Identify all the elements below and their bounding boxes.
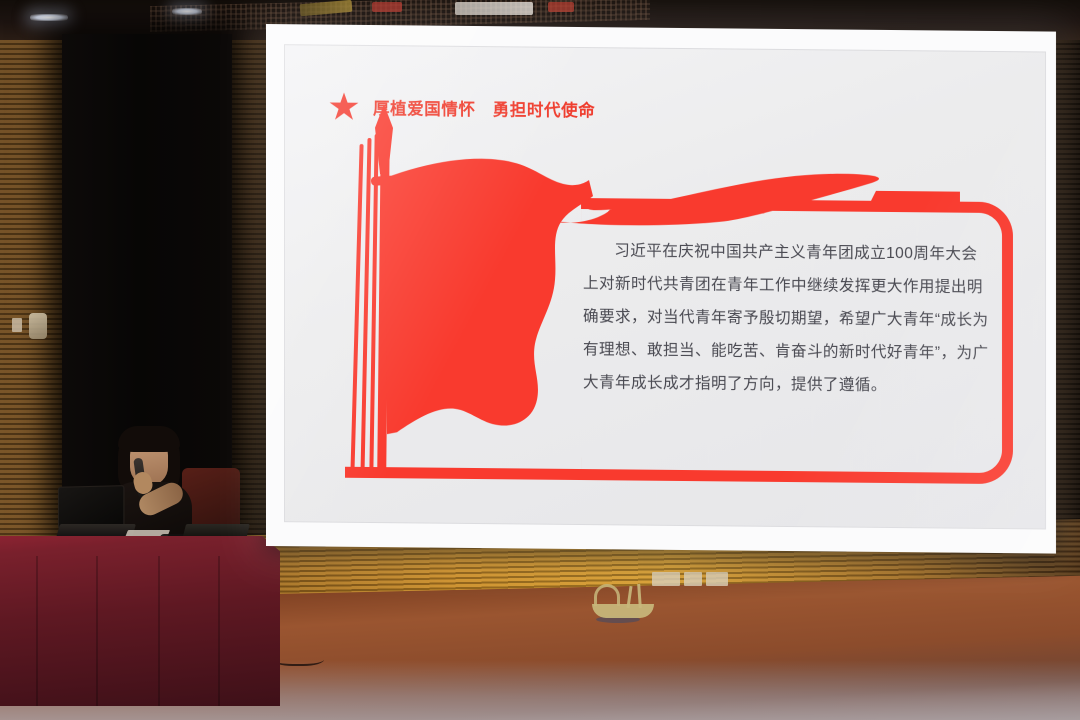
wall-switch[interactable] bbox=[12, 318, 22, 332]
ceiling-light bbox=[30, 14, 68, 21]
slide-body-text: 习近平在庆祝中国共产主义青年团成立100周年大会上对新时代共青团在青年工作中继续… bbox=[583, 234, 991, 403]
presenter-area bbox=[0, 420, 300, 720]
table-drape-fold bbox=[158, 556, 160, 706]
outlet bbox=[684, 572, 702, 586]
tripod-leg bbox=[637, 584, 642, 608]
outlet bbox=[652, 572, 680, 586]
presenter-hair-front bbox=[118, 426, 180, 452]
table-drape-fold bbox=[218, 556, 220, 706]
table-drape-fold bbox=[36, 556, 38, 706]
outlet bbox=[706, 572, 728, 586]
ceiling-fixture bbox=[548, 2, 574, 12]
tripod-arc bbox=[594, 584, 620, 606]
tripod-base bbox=[592, 604, 654, 618]
slide-canvas: 厚植爱国情怀 勇担时代使命 bbox=[284, 44, 1046, 529]
red-draped-table bbox=[0, 536, 280, 706]
presentation-slide: 厚植爱国情怀 勇担时代使命 bbox=[285, 45, 1045, 528]
ceiling-fixture bbox=[455, 2, 533, 15]
ceiling-fixture bbox=[372, 2, 402, 12]
ceiling-light bbox=[172, 8, 202, 15]
wall-speaker bbox=[29, 313, 47, 339]
photo-scene: 厚植爱国情怀 勇担时代使命 bbox=[0, 0, 1080, 720]
slide-body-paragraph: 习近平在庆祝中国共产主义青年团成立100周年大会上对新时代共青团在青年工作中继续… bbox=[583, 234, 991, 403]
projection-screen: 厚植爱国情怀 勇担时代使命 bbox=[266, 24, 1056, 554]
table-drape-fold bbox=[96, 556, 98, 706]
laptop-keyboard[interactable] bbox=[56, 524, 136, 538]
tripod-stand bbox=[592, 588, 656, 620]
